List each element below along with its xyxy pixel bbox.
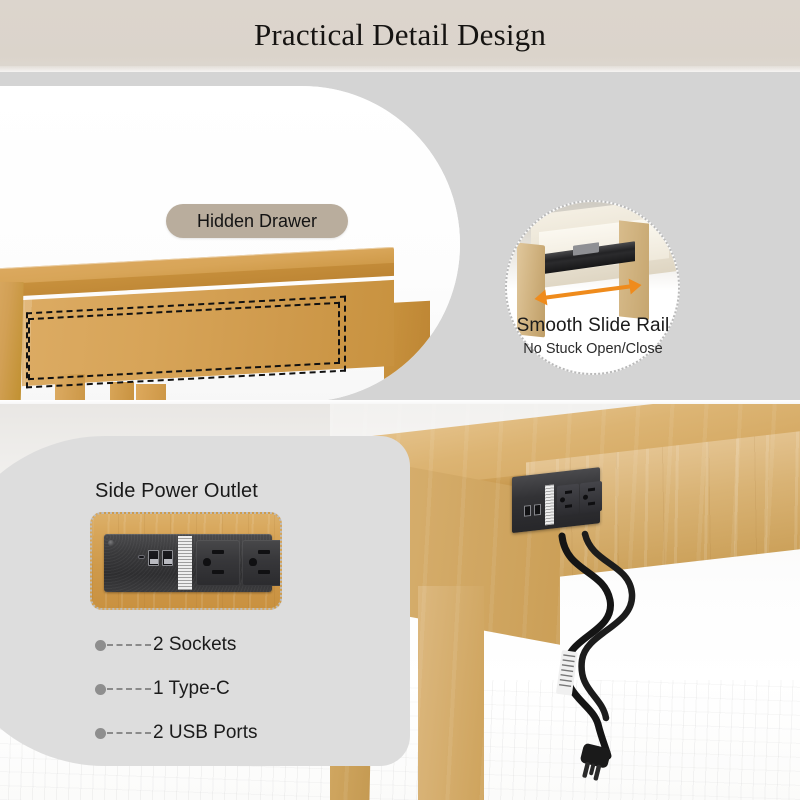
socket-slot-bottom [212,570,224,574]
hidden-drawer-badge: Hidden Drawer [166,204,348,238]
outlet-rating-label [178,536,192,590]
feature-bullet-list: 2 Sockets 1 Type-C 2 USB Ports [95,628,355,750]
page-title: Practical Detail Design [254,17,546,53]
upper-feature-section: Hidden Drawer Smooth Slide Rail No Stuck… [0,72,800,402]
closeup-ac-socket-1 [196,540,240,586]
type-c-port [138,555,145,559]
bullet-dot-icon [95,684,106,695]
drawer-back-panel [619,220,649,319]
slide-rail-caption-subtitle: No Stuck Open/Close [505,341,681,357]
header-banner: Practical Detail Design [0,0,800,72]
bullet-dashed-leader [107,644,151,646]
bullet-dashed-leader [107,732,151,734]
list-item: 1 Type-C [95,672,355,706]
outlet-closeup-card [90,512,282,610]
table-leg-mid-2 [110,382,134,402]
usb-a-port-2 [162,550,173,566]
socket-ground-hole [203,558,211,566]
socket-slot-top [212,550,224,554]
side-power-outlet-title: Side Power Outlet [95,480,385,503]
closeup-ac-socket-2 [242,540,282,586]
bullet-dot-icon [95,728,106,739]
hidden-drawer-photo-card [0,86,460,402]
slide-rail-caption: Smooth Slide Rail No Stuck Open/Close [505,315,681,357]
list-item: 2 Sockets [95,628,355,662]
socket-slot-bottom [258,570,270,574]
plate-screw-left [108,540,114,546]
bullet-label: 2 USB Ports [153,722,258,744]
infographic-page: Practical Detail Design Hidden Drawe [0,0,800,800]
list-item: 2 USB Ports [95,716,355,750]
hidden-drawer-badge-label: Hidden Drawer [197,211,317,232]
usb-a-port-1 [148,550,159,566]
slide-rail-caption-title: Smooth Slide Rail [505,315,681,337]
power-cord-loop-2 [582,534,633,718]
plug-prong-1 [582,762,590,779]
socket-slot-top [258,550,270,554]
table-leg-left-front [0,282,24,402]
bullet-dot-icon [95,640,106,651]
bullet-dashed-leader [107,688,151,690]
bullet-label: 2 Sockets [153,634,236,656]
power-plug [576,743,611,783]
plug-prong-ground [589,763,596,776]
bullet-label: 1 Type-C [153,678,230,700]
socket-ground-hole [249,558,257,566]
